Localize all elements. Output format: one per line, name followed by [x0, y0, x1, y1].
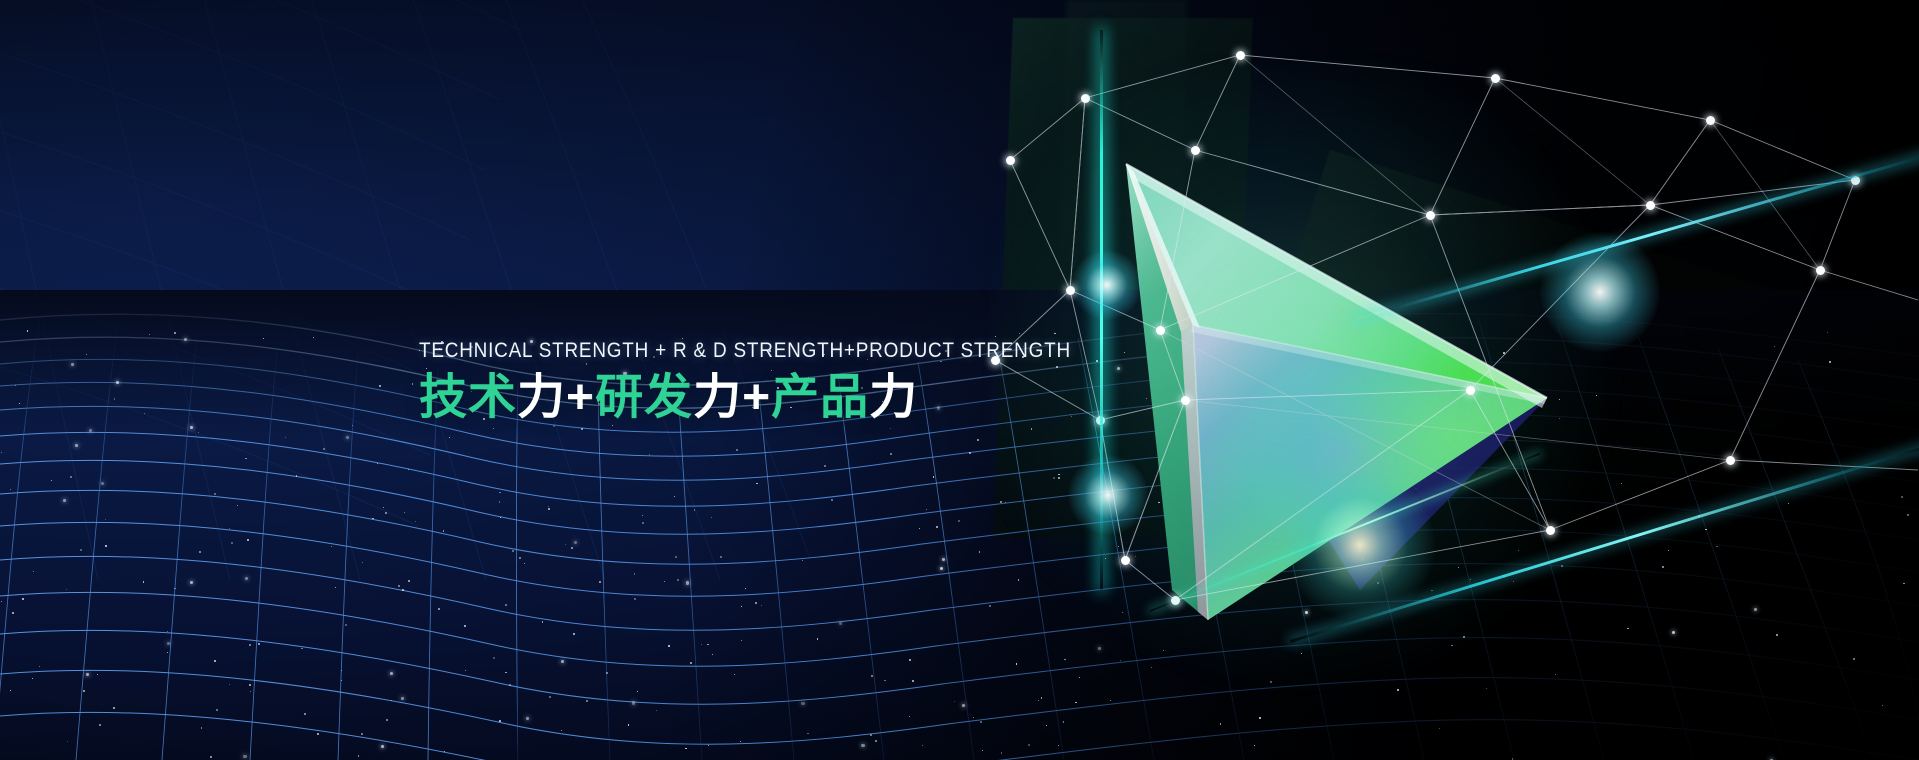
headline-block: TECHNICAL STRENGTH + R & D STRENGTH+PROD…: [419, 340, 1119, 423]
headline-chinese: 技术力+研发力+产品力: [419, 373, 1119, 423]
hero-banner: TECHNICAL STRENGTH + R & D STRENGTH+PROD…: [0, 0, 1919, 760]
headline-chinese-segment: 力: [869, 371, 918, 424]
headline-english: TECHNICAL STRENGTH + R & D STRENGTH+PROD…: [419, 340, 1035, 362]
headline-chinese-segment: +: [566, 371, 595, 424]
arrow-graphic: [1060, 120, 1580, 650]
headline-chinese-segment: 技术: [419, 371, 517, 424]
headline-chinese-segment: 力: [693, 371, 742, 424]
headline-chinese-segment: +: [742, 371, 771, 424]
headline-chinese-segment: 研发: [595, 371, 693, 424]
headline-chinese-segment: 力: [517, 371, 566, 424]
headline-chinese-segment: 产品: [771, 371, 869, 424]
